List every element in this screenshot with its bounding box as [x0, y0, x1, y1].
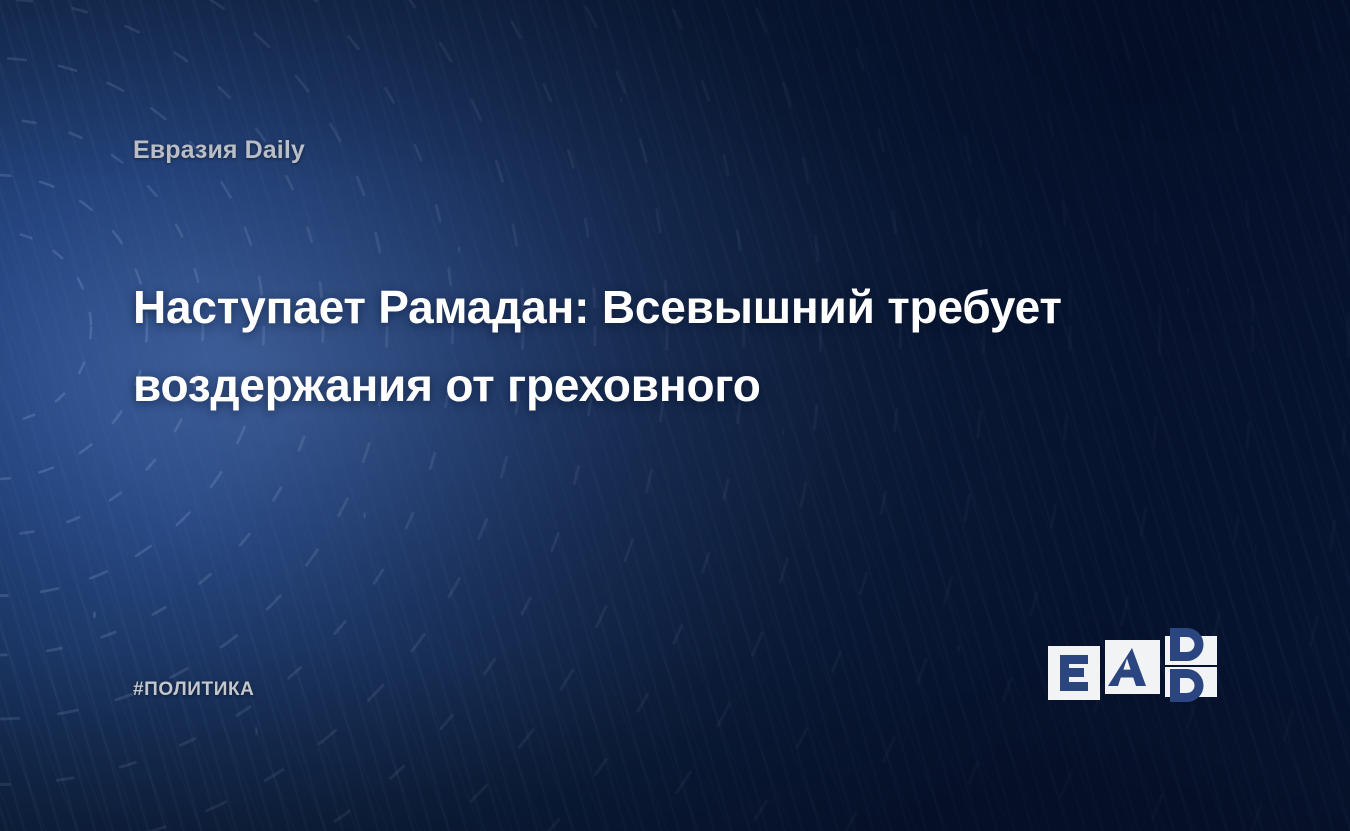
headline: Наступает Рамадан: Всевышний требует воз…	[133, 268, 1133, 424]
news-share-card: Евразия Daily Наступает Рамадан: Всевышн…	[0, 0, 1350, 831]
eadaily-logo	[1046, 622, 1224, 704]
brand-name: Евразия Daily	[133, 136, 305, 165]
category-tag[interactable]: #ПОЛИТИКА	[133, 679, 255, 701]
card-content: Евразия Daily Наступает Рамадан: Всевышн…	[0, 0, 1350, 831]
